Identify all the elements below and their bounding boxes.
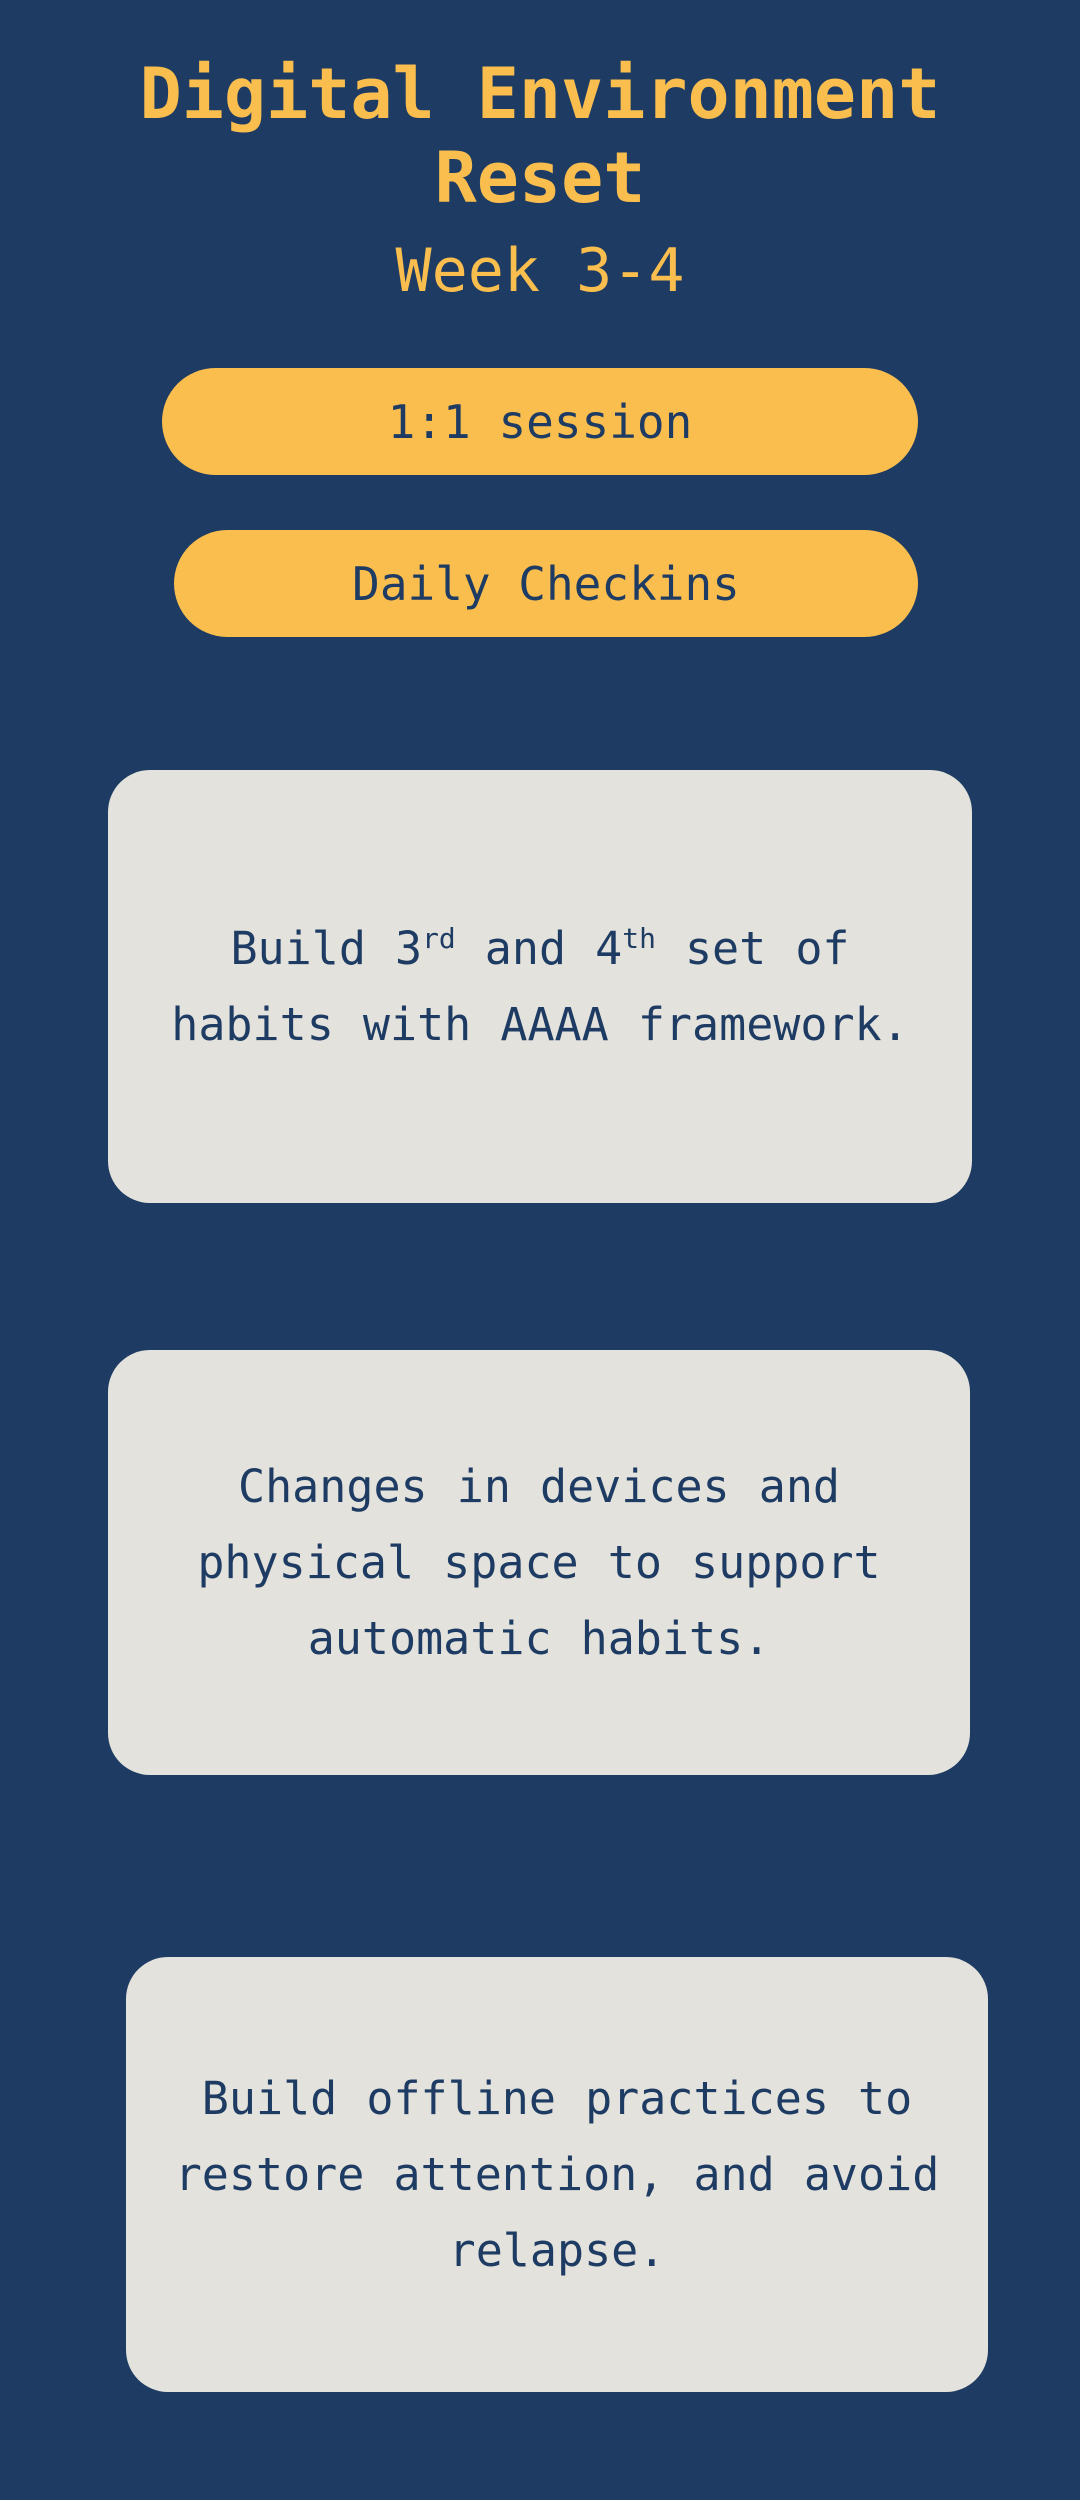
card-1-text-middle: and 4 [456, 922, 623, 975]
pill-one-to-one-session[interactable]: 1:1 session [162, 368, 918, 475]
card-offline-practices-text: Build offline practices to restore atten… [162, 2061, 952, 2289]
pill-one-to-one-session-label: 1:1 session [388, 399, 693, 445]
card-environment-changes[interactable]: Changes in devices and physical space to… [108, 1350, 970, 1775]
poster-header: Digital Environment Reset Week 3-4 [0, 0, 1080, 304]
card-habits-framework[interactable]: Build 3rd and 4th set of habits with AAA… [108, 770, 972, 1203]
card-1-text-before: Build 3 [230, 922, 422, 975]
page-title: Digital Environment Reset [0, 0, 1080, 220]
pill-daily-checkins-label: Daily Checkins [352, 561, 740, 607]
card-1-superscript-th: th [622, 922, 656, 955]
pill-daily-checkins[interactable]: Daily Checkins [174, 530, 918, 637]
page-subtitle: Week 3-4 [0, 220, 1080, 304]
card-habits-framework-text: Build 3rd and 4th set of habits with AAA… [144, 911, 936, 1063]
card-environment-changes-text: Changes in devices and physical space to… [144, 1449, 934, 1677]
card-1-superscript-rd: rd [422, 922, 456, 955]
poster-root: Digital Environment Reset Week 3-4 1:1 s… [0, 0, 1080, 2500]
card-offline-practices[interactable]: Build offline practices to restore atten… [126, 1957, 988, 2392]
